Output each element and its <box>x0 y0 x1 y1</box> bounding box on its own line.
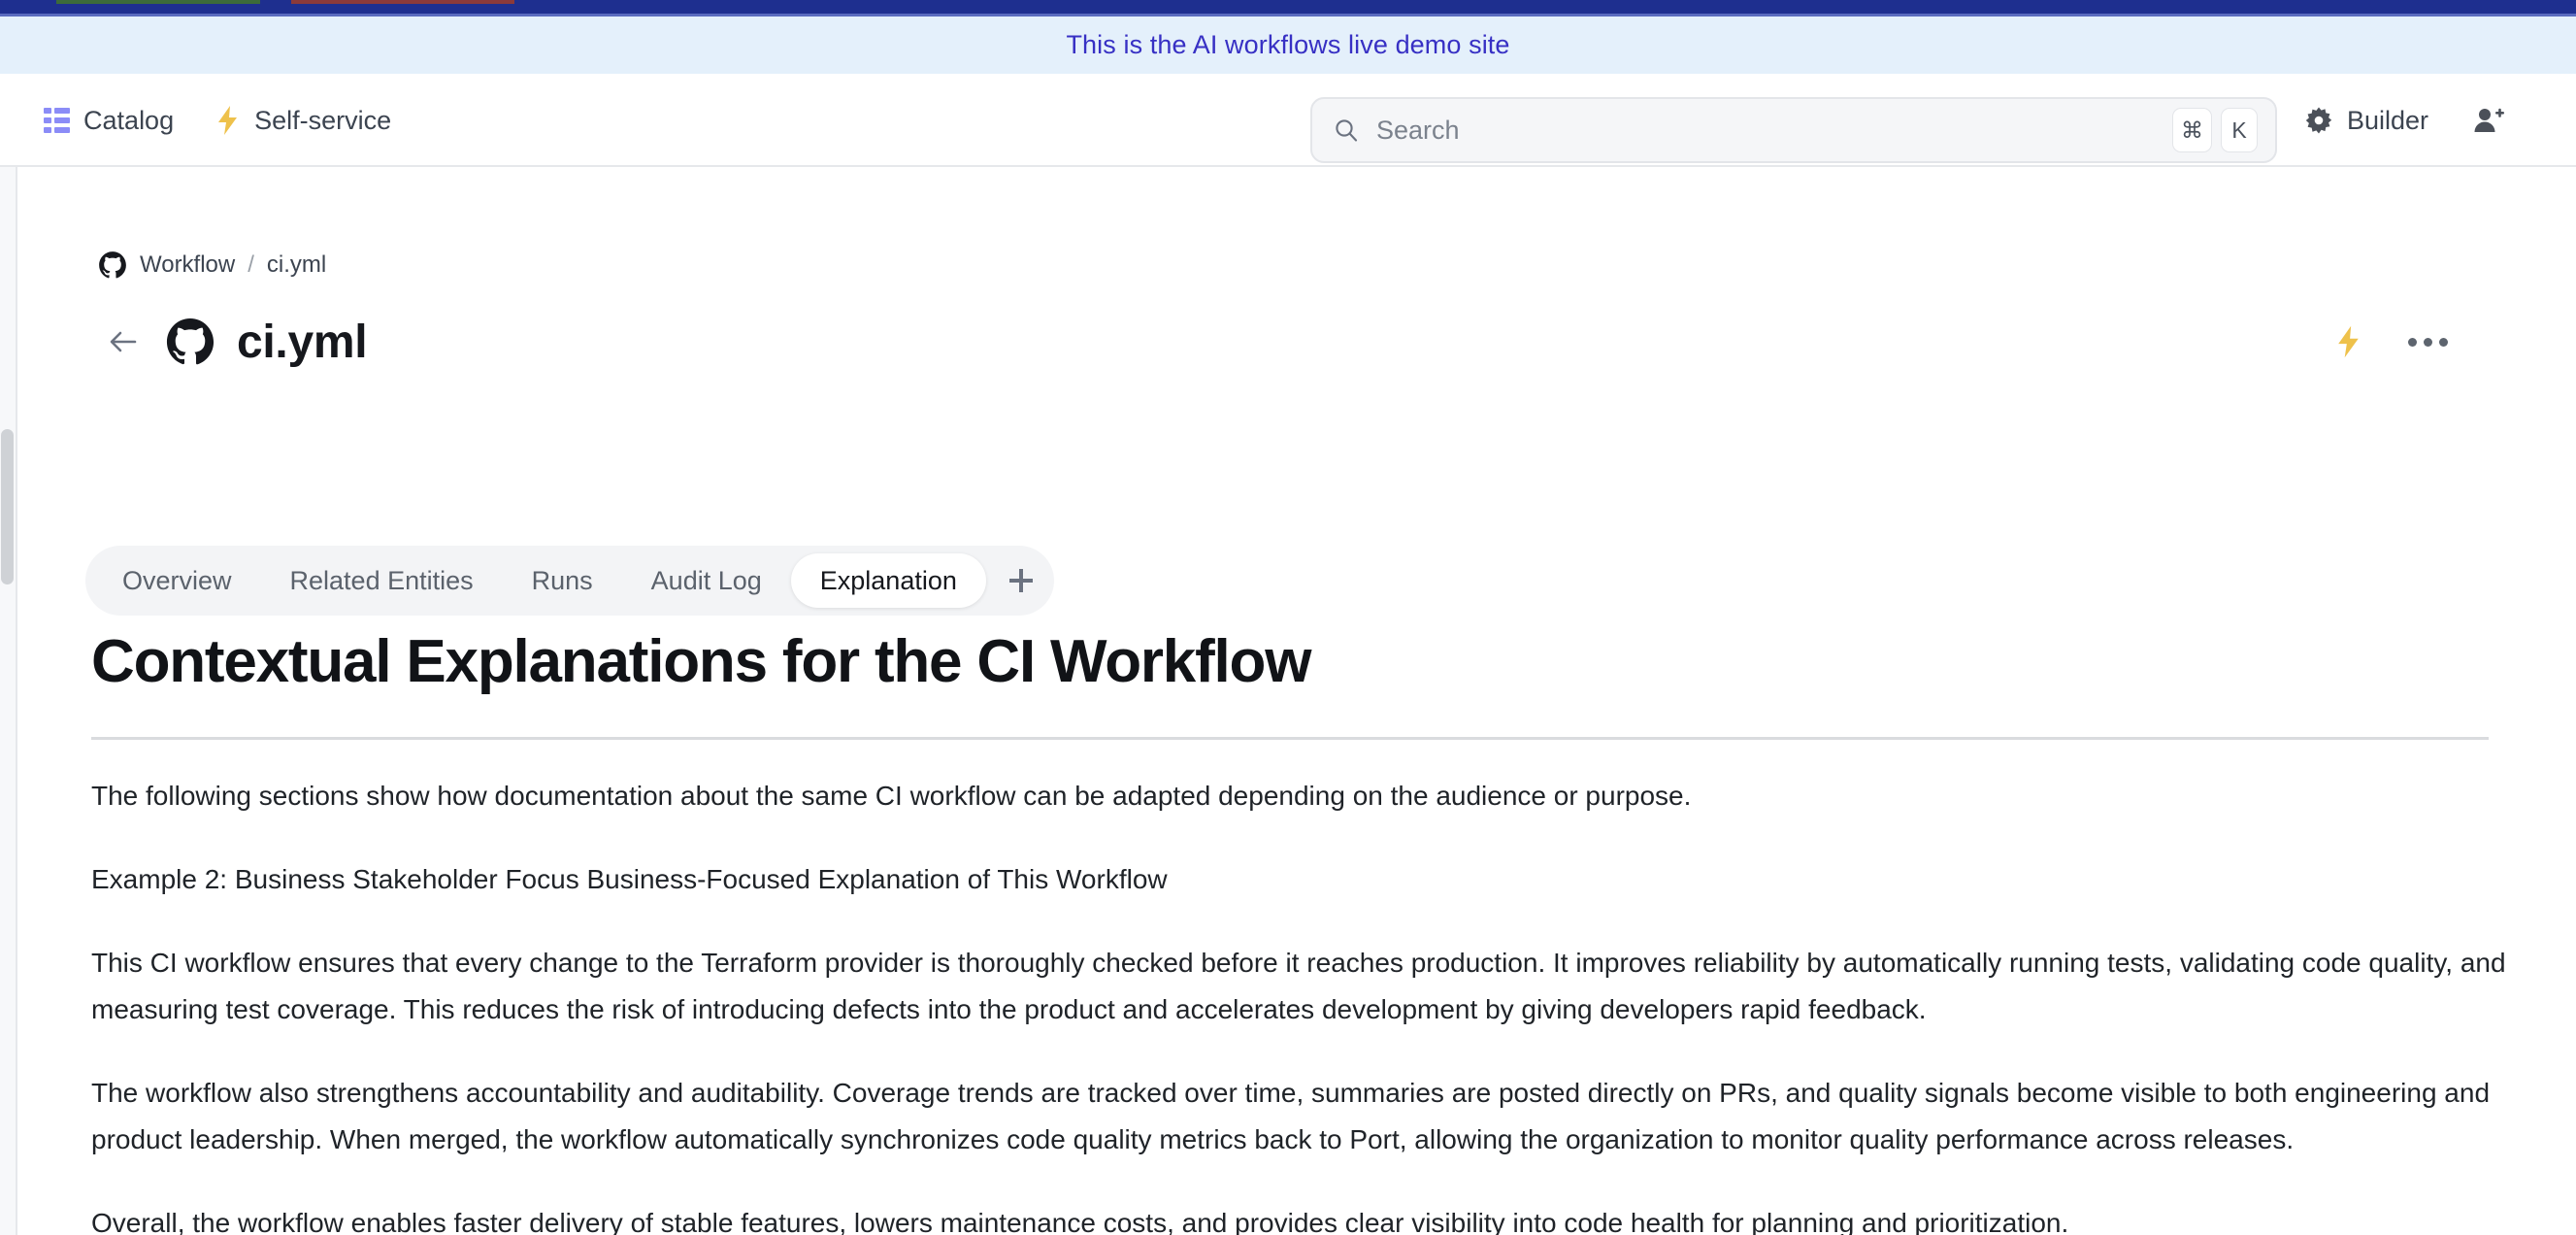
search-input[interactable] <box>1376 116 2163 146</box>
arrow-left-icon[interactable] <box>103 321 144 362</box>
builder-button-label: Builder <box>2347 106 2428 136</box>
left-rail <box>0 167 16 1235</box>
nav-item-catalog[interactable]: Catalog <box>22 74 195 167</box>
nav-item-self-service-label: Self-service <box>254 106 391 136</box>
breadcrumb-root[interactable]: Workflow <box>140 251 235 279</box>
tab-overview[interactable]: Overview <box>93 553 261 608</box>
more-options-icon[interactable] <box>2398 328 2458 356</box>
tab-audit-log[interactable]: Audit Log <box>622 553 791 608</box>
browser-tab-partial-2[interactable] <box>291 0 514 4</box>
content-paragraph-3: This CI workflow ensures that every chan… <box>91 940 2518 1033</box>
page-title-actions <box>2336 325 2458 358</box>
demo-banner: This is the AI workflows live demo site <box>0 17 2576 74</box>
breadcrumb: Workflow / ci.yml <box>98 250 326 280</box>
breadcrumb-current: ci.yml <box>267 251 326 279</box>
page-title-row: ci.yml <box>17 303 2576 381</box>
search-shortcut-k-key[interactable]: K <box>2221 108 2258 152</box>
content-heading: Contextual Explanations for the CI Workf… <box>91 606 2576 696</box>
catalog-icon <box>44 108 69 133</box>
add-user-icon[interactable] <box>2473 106 2504 135</box>
search-shortcut-cmd-key[interactable]: ⌘ <box>2172 108 2212 152</box>
lightning-bolt-icon[interactable] <box>2336 325 2361 358</box>
page-title: ci.yml <box>237 316 367 369</box>
demo-banner-text: This is the AI workflows live demo site <box>1066 30 1509 60</box>
tab-runs[interactable]: Runs <box>503 553 622 608</box>
explanation-content: Contextual Explanations for the CI Workf… <box>17 606 2576 1235</box>
entity-page: Workflow / ci.yml ci.yml Overview Relate… <box>17 167 2576 1235</box>
search-icon <box>1334 117 1359 143</box>
primary-nav: e Catalog Self-service <box>0 74 413 167</box>
tab-related-entities[interactable]: Related Entities <box>261 553 503 608</box>
content-paragraph-1: The following sections show how document… <box>91 773 2518 819</box>
header-actions: Builder <box>2300 74 2504 167</box>
browser-chrome-bar <box>0 0 2576 14</box>
browser-tab-partial-1[interactable] <box>56 0 260 4</box>
add-tab-button[interactable] <box>996 555 1046 606</box>
github-icon <box>98 250 127 280</box>
tab-explanation[interactable]: Explanation <box>791 553 986 608</box>
content-paragraph-4: The workflow also strengthens accountabi… <box>91 1070 2518 1163</box>
content-paragraph-5: Overall, the workflow enables faster del… <box>91 1200 2518 1235</box>
gear-icon <box>2304 106 2333 135</box>
github-icon <box>165 317 215 367</box>
content-divider <box>91 737 2489 740</box>
nav-item-catalog-label: Catalog <box>83 106 174 136</box>
nav-item-self-service[interactable]: Self-service <box>195 74 413 167</box>
breadcrumb-separator: / <box>248 251 254 279</box>
sidebar-scrollbar-thumb[interactable] <box>1 429 14 584</box>
builder-button[interactable]: Builder <box>2300 100 2432 142</box>
nav-item-home[interactable]: e <box>0 74 22 167</box>
search-bar[interactable]: ⌘ K <box>1310 97 2277 163</box>
lightning-bolt-icon <box>216 106 240 135</box>
app-header: e Catalog Self-service ⌘ K <box>0 74 2576 167</box>
content-paragraph-2: Example 2: Business Stakeholder Focus Bu… <box>91 856 2518 903</box>
nav-item-home-label: e <box>0 106 1 136</box>
